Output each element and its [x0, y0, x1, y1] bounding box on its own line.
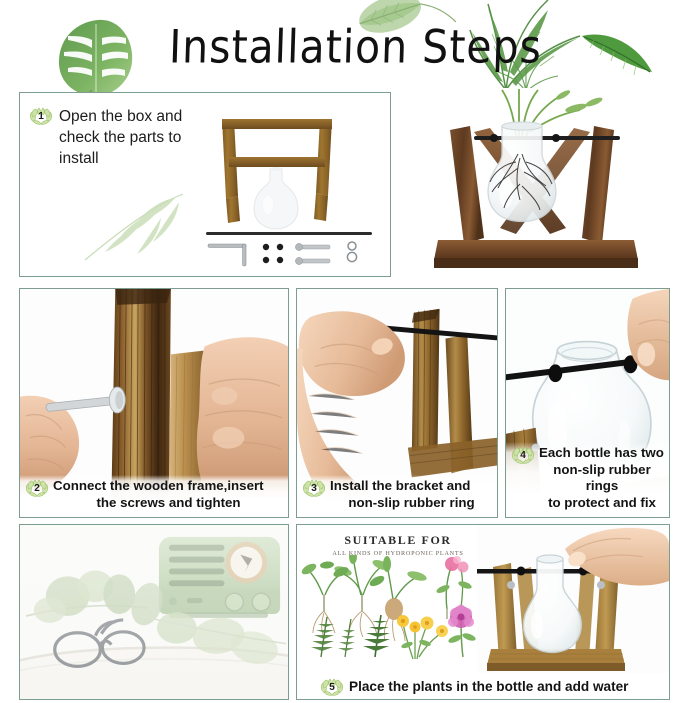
leaf-wreath-badge-icon: 2 — [24, 478, 50, 498]
step-3-panel: 3 Install the bracket and non-slip rubbe… — [296, 288, 498, 518]
step-3-caption: 3 Install the bracket and non-slip rubbe… — [297, 475, 497, 517]
frame-base-shadow — [434, 258, 638, 268]
screw-head — [597, 581, 605, 589]
step-2-label: Connect the wooden frame,insert the scre… — [53, 478, 284, 511]
step-2-line-1: Connect the wooden frame,insert — [53, 478, 284, 495]
step-5-panel: SUITABLE FOR ALL KINDS OF HYDROPONIC PLA… — [296, 524, 670, 700]
step-4-caption: 4 Each bottle has two non-slip rubber ri… — [506, 442, 669, 517]
step-5-caption: 5 Place the plants in the bottle and add… — [297, 677, 669, 697]
right-hand-holding-wood — [197, 337, 288, 497]
allen-wrench-icon — [208, 244, 246, 266]
screw-head — [507, 581, 515, 589]
step-4-line-1: Each bottle has two — [539, 445, 665, 462]
fern-leaf-icon — [363, 615, 390, 657]
metal-rod — [206, 232, 372, 235]
step-4-line-2: non-slip rubber rings — [539, 462, 665, 495]
step-5-photo — [477, 525, 669, 673]
rubber-ring — [517, 567, 526, 576]
step-4-panel: 4 Each bottle has two non-slip rubber ri… — [505, 288, 670, 518]
leaf-wreath-badge-icon: 5 — [319, 677, 345, 697]
frame-base — [434, 240, 638, 260]
step-1-text-block: 1 Open the box and check the parts to in… — [28, 106, 194, 169]
rubber-rings — [263, 244, 283, 263]
step-3-line-2: non-slip rubber ring — [330, 495, 493, 512]
step-3-label: Install the bracket and non-slip rubber … — [330, 478, 493, 511]
screws — [295, 243, 330, 264]
step-3-line-1: Install the bracket and — [330, 478, 493, 495]
step-1-label: Open the box and check the parts to inst… — [59, 106, 194, 169]
parts-layout-diagram — [200, 101, 385, 271]
glass-bulb-vase — [254, 167, 298, 229]
lifestyle-photo — [20, 525, 288, 699]
suitable-for-title: SUITABLE FOR — [305, 533, 491, 548]
wooden-top-rail — [222, 119, 332, 129]
hero-svg — [398, 88, 679, 280]
header: Installation Steps — [0, 0, 679, 92]
rubber-ring — [552, 134, 560, 142]
installation-steps-infographic: Installation Steps 1 — [0, 0, 679, 703]
leaf-wreath-badge-icon: 1 — [28, 106, 54, 126]
lifestyle-photo-panel — [19, 524, 289, 700]
frame-base-shadow — [487, 663, 625, 671]
step-2-caption: 2 Connect the wooden frame,insert the sc… — [20, 475, 288, 517]
rubber-ring — [490, 134, 498, 142]
page-title: Installation Steps — [168, 20, 543, 74]
step-2-panel: 2 Connect the wooden frame,insert the sc… — [19, 288, 289, 518]
wooden-frame-side-right — [314, 119, 332, 221]
wooden-frame-side-left — [222, 119, 240, 223]
step-5-number: 5 — [319, 677, 345, 697]
hero-product-photo — [398, 88, 679, 280]
step-1-panel: 1 Open the box and check the parts to in… — [19, 92, 391, 277]
monstera-leaf-icon — [58, 20, 132, 92]
step-1-number: 1 — [28, 106, 54, 126]
step-2-number: 2 — [24, 478, 50, 498]
wooden-mid-rail — [229, 157, 325, 167]
step-2-line-2: the screws and tighten — [53, 495, 284, 512]
step-4-line-3: to protect and fix — [539, 495, 665, 512]
leaf-wreath-badge-icon: 4 — [510, 445, 536, 465]
suitable-for-block: SUITABLE FOR ALL KINDS OF HYDROPONIC PLA… — [305, 533, 491, 557]
magenta-flower-icon — [447, 605, 476, 658]
step-5-label: Place the plants in the bottle and add w… — [349, 679, 628, 696]
fern-leaf-icon — [338, 619, 355, 657]
metal-rings — [347, 242, 356, 262]
rubber-ring-left — [548, 364, 562, 382]
step-4-label: Each bottle has two non-slip rubber ring… — [539, 445, 665, 511]
leaf-wreath-badge-icon: 3 — [301, 478, 327, 498]
watercolor-plants-illustration — [301, 555, 493, 660]
step-3-number: 3 — [301, 478, 327, 498]
palm-leaf-decor-icon — [75, 188, 190, 266]
step-4-number: 4 — [510, 445, 536, 465]
banana-leaf-icon — [582, 35, 652, 76]
